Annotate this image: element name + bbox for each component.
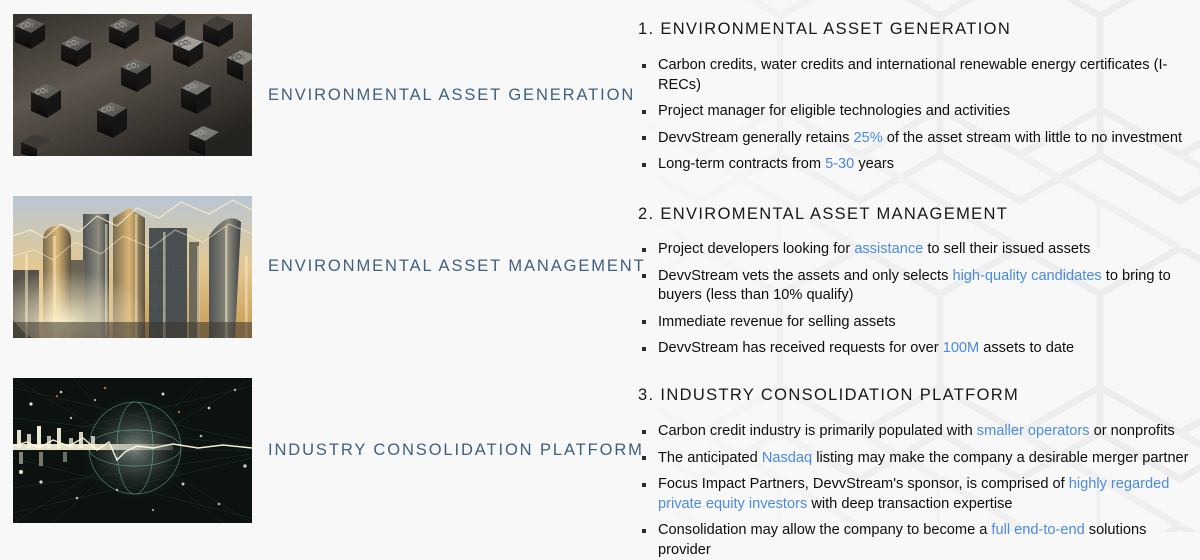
pillar-label-1: ENVIRONMENTAL ASSET GENERATION xyxy=(268,86,618,105)
bullet-item: Project developers looking for assistanc… xyxy=(638,240,1194,260)
bullet-text: with deep transaction expertise xyxy=(807,496,1012,512)
bullet-text: The anticipated xyxy=(658,450,762,466)
bullet-text: of the asset stream with little to no in… xyxy=(883,130,1182,146)
pillar-bullets-1: Carbon credits, water credits and intern… xyxy=(638,56,1194,175)
bullet-text: listing may make the company a desirable… xyxy=(812,450,1188,466)
bullet-item: Long-term contracts from 5-30 years xyxy=(638,155,1194,175)
bullet-item: The anticipated Nasdaq listing may make … xyxy=(638,449,1194,469)
bullet-item: Immediate revenue for selling assets xyxy=(638,313,1194,333)
data-network-visualization-photo xyxy=(13,378,252,523)
co2-cubes-photo: CO₂ CO₂ CO₂ xyxy=(13,14,252,156)
city-skyline-sunset-photo xyxy=(13,196,252,338)
bullet-text: assets to date xyxy=(979,340,1074,356)
bullet-square-icon xyxy=(642,110,646,114)
bullet-text: years xyxy=(854,156,894,172)
bullet-text: Consolidation may allow the company to b… xyxy=(658,522,991,538)
bullet-item: Carbon credits, water credits and intern… xyxy=(638,56,1194,95)
bullet-item: DevvStream generally retains 25% of the … xyxy=(638,129,1194,149)
bullet-square-icon xyxy=(642,274,646,278)
bullet-text: DevvStream generally retains xyxy=(658,130,853,146)
pillar-bullets-3: Carbon credit industry is primarily popu… xyxy=(638,422,1194,560)
bullet-item: DevvStream vets the assets and only sele… xyxy=(638,267,1194,306)
bullet-text: Immediate revenue for selling assets xyxy=(658,314,896,330)
pillar-detail-3: 3. INDUSTRY CONSOLIDATION PLATFORM Carbo… xyxy=(638,378,1194,560)
pillar-label-3: INDUSTRY CONSOLIDATION PLATFORM xyxy=(268,441,618,460)
pillar-heading-2: 2. ENVIROMENTAL ASSET MANAGEMENT xyxy=(638,205,1194,224)
bullet-text: Project manager for eligible technologie… xyxy=(658,103,1010,119)
bullet-accent-text: assistance xyxy=(854,241,923,257)
bullet-accent-text: 5-30 xyxy=(825,156,854,172)
bullet-item: DevvStream has received requests for ove… xyxy=(638,339,1194,359)
pillar-label-2: ENVIRONMENTAL ASSET MANAGEMENT xyxy=(268,257,618,276)
bullet-square-icon xyxy=(642,136,646,140)
pillar-detail-1: 1. ENVIRONMENTAL ASSET GENERATION Carbon… xyxy=(638,14,1194,175)
bullet-square-icon xyxy=(642,456,646,460)
bullet-accent-text: smaller operators xyxy=(977,423,1090,439)
bullet-accent-text: full end-to-end xyxy=(991,522,1084,538)
bullet-item: Consolidation may allow the company to b… xyxy=(638,521,1194,560)
bullet-square-icon xyxy=(642,248,646,252)
bullet-accent-text: 25% xyxy=(853,130,882,146)
bullet-text: Carbon credit industry is primarily popu… xyxy=(658,423,977,439)
bullet-item: Carbon credit industry is primarily popu… xyxy=(638,422,1194,442)
bullet-square-icon xyxy=(642,320,646,324)
bullet-text: to sell their issued assets xyxy=(923,241,1090,257)
bullet-text: DevvStream vets the assets and only sele… xyxy=(658,268,952,284)
bullet-square-icon xyxy=(642,430,646,434)
bullet-square-icon xyxy=(642,347,646,351)
bullet-text: Carbon credits, water credits and intern… xyxy=(658,57,1167,93)
bullet-text: Project developers looking for xyxy=(658,241,854,257)
bullet-text: or nonprofits xyxy=(1090,423,1175,439)
bullet-square-icon xyxy=(642,64,646,68)
pillar-bullets-2: Project developers looking for assistanc… xyxy=(638,240,1194,359)
pillar-heading-3: 3. INDUSTRY CONSOLIDATION PLATFORM xyxy=(638,386,1194,405)
bullet-text: Long-term contracts from xyxy=(658,156,825,172)
bullet-item: Project manager for eligible technologie… xyxy=(638,102,1194,122)
bullet-square-icon xyxy=(642,483,646,487)
bullet-square-icon xyxy=(642,163,646,167)
bullet-accent-text: Nasdaq xyxy=(762,450,812,466)
pillar-detail-2: 2. ENVIROMENTAL ASSET MANAGEMENT Project… xyxy=(638,196,1194,359)
bullet-text: Focus Impact Partners, DevvStream's spon… xyxy=(658,476,1069,492)
bullet-accent-text: 100M xyxy=(943,340,980,356)
bullet-accent-text: high-quality candidates xyxy=(952,268,1101,284)
pillar-heading-1: 1. ENVIRONMENTAL ASSET GENERATION xyxy=(638,20,1194,39)
bullet-text: DevvStream has received requests for ove… xyxy=(658,340,943,356)
bullet-item: Focus Impact Partners, DevvStream's spon… xyxy=(638,475,1194,514)
